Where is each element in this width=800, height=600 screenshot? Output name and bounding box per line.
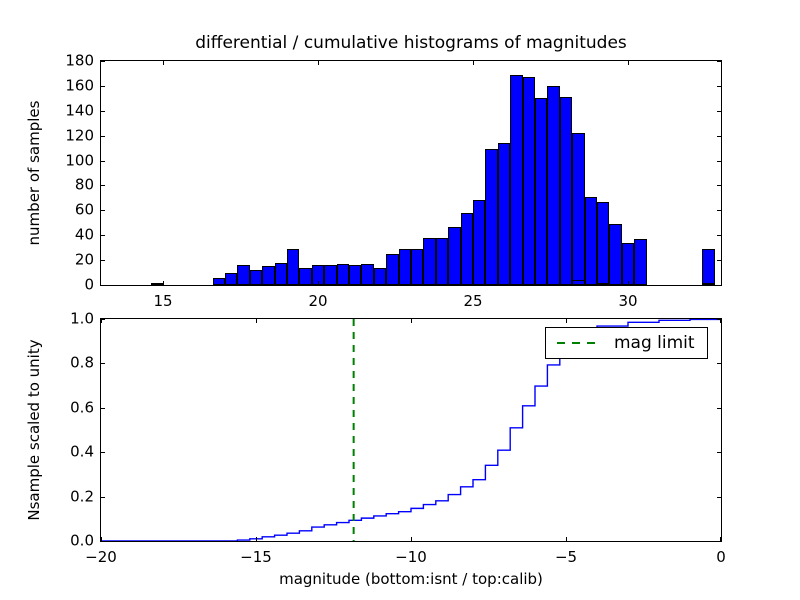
y-tick-label-bottom: 0.4 <box>42 445 94 460</box>
histogram-bar <box>498 143 510 285</box>
page-title: differential / cumulative histograms of … <box>100 32 722 54</box>
y-tick-label-bottom: 1.0 <box>42 312 94 327</box>
legend[interactable]: mag limit <box>545 327 708 359</box>
y-tick-top-right <box>717 86 721 87</box>
histogram-bar <box>473 200 485 285</box>
y-tick-bottom-right <box>717 408 721 409</box>
y-tick-label-bottom: 0.6 <box>42 400 94 415</box>
y-tick-top <box>101 61 105 62</box>
x-tick-bottom-upper <box>101 319 102 323</box>
histogram-bar <box>275 263 287 285</box>
x-tick-bottom <box>256 537 257 541</box>
histogram-bar <box>386 254 398 285</box>
y-tick-top-right <box>717 260 721 261</box>
histogram-bar <box>585 197 597 285</box>
x-tick-bottom <box>566 537 567 541</box>
y-tick-label-top: 120 <box>42 128 94 143</box>
histogram-bar <box>597 202 609 285</box>
x-tick-label-bottom: −20 <box>85 550 117 565</box>
y-tick-top <box>101 235 105 236</box>
y-tick-top-right <box>717 61 721 62</box>
y-tick-label-top: 80 <box>42 178 94 193</box>
y-tick-top <box>101 86 105 87</box>
histogram-bar <box>597 283 609 285</box>
x-tick-bottom-upper <box>256 319 257 323</box>
x-tick-top-upper <box>318 61 319 65</box>
histogram-bar <box>151 283 163 285</box>
x-tick-bottom-upper <box>720 319 721 323</box>
x-tick-bottom <box>101 537 102 541</box>
y-tick-bottom <box>101 452 105 453</box>
histogram-bar <box>535 98 547 285</box>
x-tick-top-upper <box>628 61 629 65</box>
histogram-bar <box>349 265 361 285</box>
y-tick-label-top: 140 <box>42 103 94 118</box>
x-tick-bottom-upper <box>411 319 412 323</box>
x-tick-bottom <box>720 537 721 541</box>
histogram-bar <box>299 268 311 285</box>
x-tick-label-top: 30 <box>618 294 637 309</box>
y-tick-label-bottom: 0.0 <box>42 534 94 549</box>
histogram-bar <box>237 265 249 285</box>
axis-label-x: magnitude (bottom:isnt / top:calib) <box>100 570 722 588</box>
histogram-bar <box>324 265 336 285</box>
histogram-bar <box>423 238 435 285</box>
histogram-bar <box>485 149 497 285</box>
y-tick-label-top: 20 <box>42 253 94 268</box>
y-tick-label-bottom: 0.8 <box>42 356 94 371</box>
histogram-bar <box>622 243 634 285</box>
y-tick-bottom <box>101 408 105 409</box>
histogram-bar <box>374 268 386 285</box>
x-tick-top-upper <box>163 61 164 65</box>
histogram-bar <box>213 278 225 285</box>
x-tick-top <box>163 281 164 285</box>
y-tick-label-top: 0 <box>42 278 94 293</box>
y-tick-bottom <box>101 497 105 498</box>
histogram-bar <box>634 239 646 285</box>
histogram-bar <box>560 97 572 285</box>
figure-canvas: differential / cumulative histograms of … <box>0 0 800 600</box>
mag-limit-legend-swatch <box>556 336 598 350</box>
differential-histogram-plot-area <box>101 61 721 285</box>
y-tick-top-right <box>717 185 721 186</box>
x-tick-bottom-upper <box>566 319 567 323</box>
axis-label-y-bottom: Nsample scaled to unity <box>26 318 42 542</box>
y-tick-top <box>101 185 105 186</box>
histogram-bar <box>547 86 559 285</box>
histogram-bar <box>262 266 274 285</box>
y-tick-bottom-right <box>717 497 721 498</box>
y-tick-top-right <box>717 285 721 286</box>
x-tick-label-top: 20 <box>308 294 327 309</box>
histogram-bar <box>448 227 460 285</box>
y-tick-top <box>101 285 105 286</box>
y-tick-label-top: 160 <box>42 78 94 93</box>
y-tick-top-right <box>717 136 721 137</box>
y-tick-bottom <box>101 541 105 542</box>
y-tick-top <box>101 260 105 261</box>
y-tick-bottom-right <box>717 541 721 542</box>
histogram-bar <box>250 270 262 285</box>
y-tick-top <box>101 111 105 112</box>
histogram-bar <box>702 283 714 285</box>
y-tick-label-top: 60 <box>42 203 94 218</box>
histogram-bar <box>609 224 621 285</box>
histogram-bar <box>702 249 714 285</box>
legend-label-mag-limit: mag limit <box>614 334 695 352</box>
y-tick-top-right <box>717 161 721 162</box>
y-tick-top <box>101 136 105 137</box>
y-tick-bottom-right <box>717 452 721 453</box>
histogram-bar <box>337 264 349 285</box>
x-tick-label-bottom: 0 <box>716 550 726 565</box>
x-tick-label-bottom: −10 <box>395 550 427 565</box>
x-tick-label-top: 15 <box>153 294 172 309</box>
histogram-bar <box>411 249 423 285</box>
histogram-bar <box>510 75 522 285</box>
x-tick-label-top: 25 <box>463 294 482 309</box>
y-tick-label-top: 100 <box>42 153 94 168</box>
y-tick-top <box>101 161 105 162</box>
x-tick-top <box>628 281 629 285</box>
y-tick-label-top: 40 <box>42 228 94 243</box>
y-tick-top <box>101 210 105 211</box>
histogram-bar <box>461 213 473 285</box>
y-tick-top-right <box>717 210 721 211</box>
y-tick-bottom-right <box>717 363 721 364</box>
y-tick-top-right <box>717 111 721 112</box>
y-tick-bottom <box>101 363 105 364</box>
histogram-bar <box>523 77 535 285</box>
x-tick-label-bottom: −5 <box>555 550 577 565</box>
histogram-bar <box>225 273 237 285</box>
differential-histogram-axes <box>100 60 722 286</box>
x-tick-bottom <box>411 537 412 541</box>
histogram-bar <box>436 238 448 285</box>
x-tick-label-bottom: −15 <box>240 550 272 565</box>
y-tick-top-right <box>717 235 721 236</box>
histogram-bar <box>572 280 584 285</box>
y-tick-label-top: 180 <box>42 54 94 69</box>
histogram-bar <box>399 249 411 285</box>
x-tick-top-upper <box>473 61 474 65</box>
histogram-bar <box>572 133 584 285</box>
histogram-bar <box>287 249 299 285</box>
axis-label-y-top: number of samples <box>26 60 42 286</box>
histogram-bar <box>361 264 373 285</box>
x-tick-top <box>318 281 319 285</box>
y-tick-label-bottom: 0.2 <box>42 489 94 504</box>
x-tick-top <box>473 281 474 285</box>
